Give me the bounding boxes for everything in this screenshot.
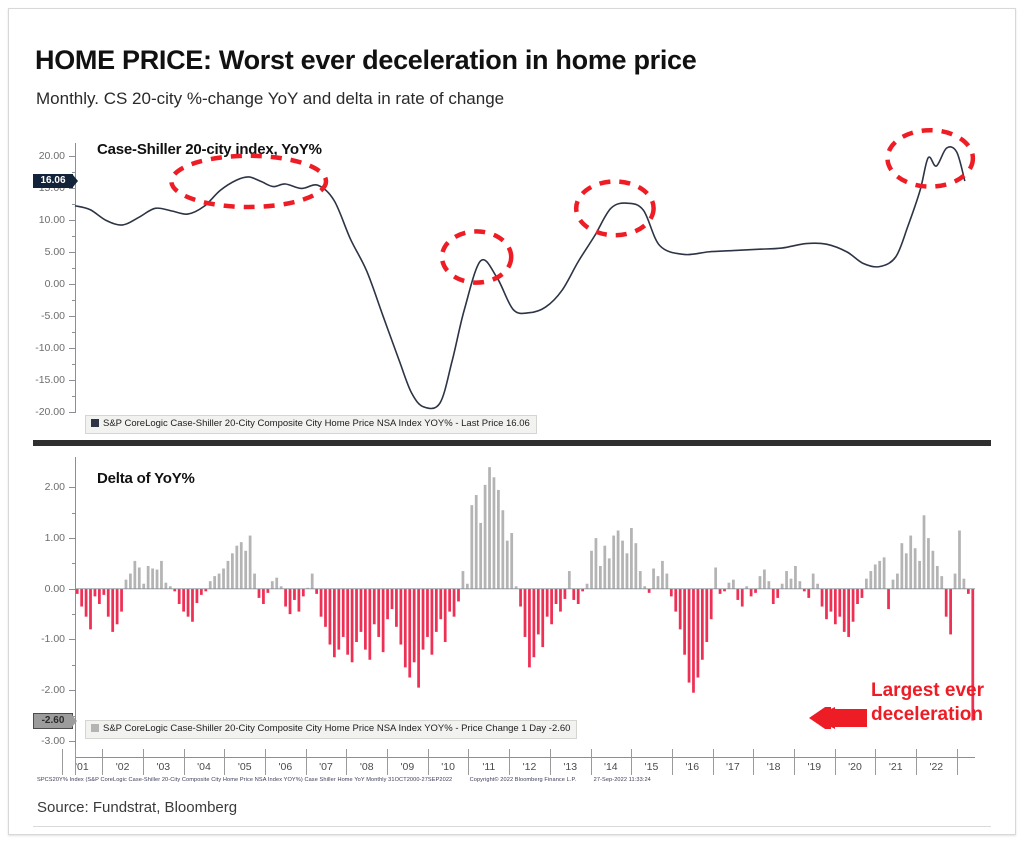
delta-bar bbox=[373, 589, 376, 624]
x-tick bbox=[184, 749, 185, 775]
delta-bar bbox=[200, 589, 203, 595]
delta-bar bbox=[435, 589, 438, 632]
delta-bar bbox=[617, 531, 620, 589]
delta-bar bbox=[785, 571, 788, 589]
delta-bar bbox=[710, 589, 713, 619]
delta-bar bbox=[213, 576, 216, 589]
delta-bar bbox=[914, 548, 917, 589]
delta-bar bbox=[568, 571, 571, 589]
delta-bar bbox=[524, 589, 527, 637]
x-tick-label: '05 bbox=[238, 761, 252, 773]
delta-bar bbox=[342, 589, 345, 637]
delta-bar bbox=[475, 495, 478, 589]
delta-bar bbox=[284, 589, 287, 607]
delta-bar bbox=[85, 589, 88, 617]
delta-bar bbox=[532, 589, 535, 657]
delta-bar bbox=[750, 589, 753, 597]
delta-bar bbox=[869, 571, 872, 589]
delta-bar bbox=[830, 589, 833, 612]
delta-bar bbox=[852, 589, 855, 622]
delta-bar bbox=[847, 589, 850, 637]
delta-bar bbox=[781, 584, 784, 589]
delta-bar bbox=[807, 589, 810, 598]
x-tick-label: '14 bbox=[604, 761, 618, 773]
delta-bar bbox=[754, 589, 757, 593]
delta-bar bbox=[227, 561, 230, 589]
delta-bar bbox=[165, 583, 168, 589]
x-tick-label: '03 bbox=[156, 761, 170, 773]
delta-bar bbox=[178, 589, 181, 604]
delta-bar bbox=[488, 467, 491, 589]
delta-bar bbox=[652, 569, 655, 589]
delta-bar bbox=[298, 589, 301, 612]
delta-bar bbox=[80, 589, 83, 607]
delta-bar bbox=[391, 589, 394, 609]
delta-bar bbox=[838, 589, 841, 617]
delta-bar bbox=[258, 589, 261, 598]
delta-bar bbox=[586, 584, 589, 589]
delta-bar bbox=[670, 589, 673, 597]
delta-bar bbox=[887, 589, 890, 609]
delta-bar bbox=[320, 589, 323, 617]
delta-bar bbox=[772, 589, 775, 604]
x-tick bbox=[428, 749, 429, 775]
delta-bar bbox=[923, 515, 926, 589]
delta-bar bbox=[776, 589, 779, 598]
x-tick bbox=[306, 749, 307, 775]
x-tick-label: '22 bbox=[929, 761, 943, 773]
source-note: Source: Fundstrat, Bloomberg bbox=[37, 799, 237, 816]
delta-bar bbox=[351, 589, 354, 663]
delta-bar bbox=[679, 589, 682, 630]
delta-bar bbox=[94, 589, 97, 597]
delta-bar bbox=[417, 589, 420, 688]
delta-bar bbox=[688, 589, 691, 683]
x-tick bbox=[387, 749, 388, 775]
bottom-chart-legend: S&P CoreLogic Case-Shiller 20-City Compo… bbox=[85, 720, 577, 739]
delta-bar bbox=[612, 536, 615, 589]
delta-bar bbox=[382, 589, 385, 652]
delta-bar bbox=[874, 564, 877, 588]
x-tick-label: '16 bbox=[685, 761, 699, 773]
x-tick-label: '07 bbox=[319, 761, 333, 773]
delta-bar bbox=[404, 589, 407, 668]
x-tick bbox=[835, 749, 836, 775]
annotation-text: Largest ever deceleration bbox=[871, 679, 984, 727]
x-tick bbox=[957, 749, 958, 775]
delta-bar bbox=[741, 589, 744, 607]
delta-bar bbox=[519, 589, 522, 607]
delta-bar bbox=[187, 589, 190, 617]
x-tick-label: '12 bbox=[523, 761, 537, 773]
delta-bar bbox=[364, 589, 367, 650]
delta-bar bbox=[235, 546, 238, 589]
delta-bar bbox=[577, 589, 580, 604]
delta-bar bbox=[439, 589, 442, 619]
delta-bar bbox=[386, 589, 389, 619]
x-tick-label: '06 bbox=[279, 761, 293, 773]
delta-bar bbox=[861, 589, 864, 598]
annotation-line-1: Largest ever bbox=[871, 679, 984, 703]
legend-swatch-bar bbox=[91, 724, 99, 732]
bloomberg-metadata: SPCS20Y% Index (S&P CoreLogic Case-Shill… bbox=[37, 777, 651, 783]
delta-bar bbox=[767, 581, 770, 589]
delta-bar bbox=[661, 561, 664, 589]
delta-bar bbox=[546, 589, 549, 617]
delta-bar bbox=[457, 589, 460, 602]
delta-bar bbox=[595, 538, 598, 589]
delta-bar bbox=[395, 589, 398, 627]
delta-bar bbox=[413, 589, 416, 663]
delta-bar bbox=[231, 553, 234, 588]
delta-bar bbox=[408, 589, 411, 678]
delta-bar bbox=[967, 589, 970, 594]
delta-bar bbox=[634, 543, 637, 589]
delta-bar bbox=[905, 553, 908, 588]
delta-bar bbox=[470, 505, 473, 589]
delta-bar bbox=[249, 536, 252, 589]
delta-bar bbox=[302, 589, 305, 597]
x-tick bbox=[102, 749, 103, 775]
bottom-chart-last-value-badge: -2.60 bbox=[33, 713, 73, 729]
delta-bar bbox=[825, 589, 828, 619]
delta-bar bbox=[497, 490, 500, 589]
delta-bar bbox=[559, 589, 562, 612]
x-tick bbox=[265, 749, 266, 775]
delta-bar bbox=[572, 589, 575, 600]
delta-bar bbox=[555, 589, 558, 604]
delta-bar bbox=[683, 589, 686, 655]
x-tick bbox=[468, 749, 469, 775]
delta-bar bbox=[927, 538, 930, 589]
bottom-chart-legend-text: S&P CoreLogic Case-Shiller 20-City Compo… bbox=[103, 723, 570, 734]
delta-bar bbox=[692, 589, 695, 693]
x-tick-label: '02 bbox=[116, 761, 130, 773]
delta-bar bbox=[936, 566, 939, 589]
badge-pointer bbox=[72, 715, 77, 727]
x-tick bbox=[794, 749, 795, 775]
delta-bar bbox=[674, 589, 677, 612]
delta-bar bbox=[732, 580, 735, 589]
delta-bar bbox=[816, 584, 819, 589]
delta-bar bbox=[218, 574, 221, 589]
x-tick bbox=[509, 749, 510, 775]
x-tick bbox=[591, 749, 592, 775]
delta-bar bbox=[719, 589, 722, 594]
x-tick-label: '04 bbox=[197, 761, 211, 773]
delta-bar bbox=[909, 536, 912, 589]
x-tick-label: '08 bbox=[360, 761, 374, 773]
delta-bar bbox=[399, 589, 402, 645]
delta-bar bbox=[129, 574, 132, 589]
delta-bar bbox=[590, 551, 593, 589]
delta-bar bbox=[98, 589, 101, 604]
delta-bar bbox=[311, 574, 314, 589]
delta-bar bbox=[599, 566, 602, 589]
delta-bar bbox=[76, 589, 79, 594]
delta-bar bbox=[329, 589, 332, 645]
bloomberg-meta-right: Copyright© 2022 Bloomberg Finance L.P. bbox=[470, 777, 577, 783]
delta-bar bbox=[346, 589, 349, 655]
delta-bar bbox=[266, 589, 269, 593]
x-tick bbox=[753, 749, 754, 775]
delta-bar bbox=[182, 589, 185, 612]
delta-bar bbox=[932, 551, 935, 589]
delta-bar bbox=[453, 589, 456, 617]
delta-bar bbox=[626, 553, 629, 588]
delta-bar bbox=[728, 583, 731, 589]
bloomberg-meta-left: SPCS20Y% Index (S&P CoreLogic Case-Shill… bbox=[37, 777, 452, 783]
delta-bar bbox=[368, 589, 371, 660]
delta-bar bbox=[448, 589, 451, 612]
delta-bar bbox=[222, 569, 225, 589]
delta-bar bbox=[736, 589, 739, 600]
x-tick bbox=[672, 749, 673, 775]
delta-bar bbox=[510, 533, 513, 589]
delta-bar bbox=[324, 589, 327, 627]
x-tick bbox=[916, 749, 917, 775]
x-tick bbox=[631, 749, 632, 775]
x-tick bbox=[875, 749, 876, 775]
x-tick bbox=[143, 749, 144, 775]
delta-bar bbox=[493, 477, 496, 589]
x-tick bbox=[550, 749, 551, 775]
delta-bar bbox=[111, 589, 114, 632]
delta-bar bbox=[603, 546, 606, 589]
delta-bar bbox=[621, 541, 624, 589]
delta-bar bbox=[954, 574, 957, 589]
x-tick-label: '20 bbox=[848, 761, 862, 773]
delta-bar bbox=[564, 589, 567, 599]
delta-bar bbox=[790, 579, 793, 589]
x-tick-label: '01 bbox=[75, 761, 89, 773]
delta-bar bbox=[528, 589, 531, 668]
delta-bar bbox=[794, 566, 797, 589]
delta-bar bbox=[666, 574, 669, 589]
delta-bar bbox=[639, 571, 642, 589]
delta-bar bbox=[244, 551, 247, 589]
delta-bar bbox=[843, 589, 846, 632]
delta-bar bbox=[209, 581, 212, 589]
delta-bar bbox=[151, 569, 154, 589]
delta-bar bbox=[865, 579, 868, 589]
x-tick-label: '13 bbox=[563, 761, 577, 773]
delta-bar bbox=[333, 589, 336, 657]
chart-card: HOME PRICE: Worst ever deceleration in h… bbox=[8, 8, 1016, 835]
delta-bar bbox=[133, 561, 136, 589]
x-tick-label: '21 bbox=[889, 761, 903, 773]
delta-bar bbox=[466, 584, 469, 589]
delta-bar bbox=[763, 570, 766, 589]
delta-bar bbox=[315, 589, 318, 594]
delta-bar bbox=[506, 541, 509, 589]
x-tick-label: '15 bbox=[645, 761, 659, 773]
delta-bar bbox=[714, 568, 717, 589]
delta-bar bbox=[701, 589, 704, 660]
delta-bar bbox=[958, 531, 961, 589]
delta-bar bbox=[102, 589, 105, 595]
delta-bar bbox=[484, 485, 487, 589]
annotation-arrow bbox=[809, 707, 867, 729]
delta-bar bbox=[896, 574, 899, 589]
delta-bar bbox=[125, 580, 128, 589]
delta-bar bbox=[271, 581, 274, 589]
delta-bar bbox=[253, 574, 256, 589]
delta-bar bbox=[799, 581, 802, 589]
delta-bar bbox=[262, 589, 265, 604]
delta-bar bbox=[878, 561, 881, 589]
delta-bar bbox=[120, 589, 123, 612]
delta-bar bbox=[812, 574, 815, 589]
x-tick-label: '19 bbox=[807, 761, 821, 773]
delta-bar bbox=[759, 576, 762, 589]
delta-bar bbox=[856, 589, 859, 604]
x-tick-label: '17 bbox=[726, 761, 740, 773]
delta-bar bbox=[156, 570, 159, 589]
delta-bar bbox=[705, 589, 708, 642]
delta-bar bbox=[444, 589, 447, 642]
delta-bar bbox=[648, 589, 651, 593]
delta-bar bbox=[160, 561, 163, 589]
delta-bar bbox=[360, 589, 363, 632]
delta-bar bbox=[147, 566, 150, 589]
delta-bar bbox=[892, 580, 895, 589]
x-tick-label: '11 bbox=[482, 761, 495, 773]
delta-bar bbox=[138, 568, 141, 589]
delta-bar bbox=[501, 510, 504, 589]
delta-bar bbox=[355, 589, 358, 642]
delta-bar bbox=[697, 589, 700, 678]
delta-bar bbox=[196, 589, 199, 603]
x-axis-line bbox=[75, 757, 975, 758]
delta-bar bbox=[900, 543, 903, 589]
delta-bar bbox=[191, 589, 194, 622]
delta-bar bbox=[608, 558, 611, 588]
delta-bar bbox=[142, 584, 145, 589]
x-tick bbox=[346, 749, 347, 775]
delta-bar bbox=[422, 589, 425, 650]
delta-bar bbox=[657, 576, 660, 589]
delta-bar bbox=[479, 523, 482, 589]
x-tick-label: '18 bbox=[767, 761, 781, 773]
delta-bar bbox=[431, 589, 434, 655]
delta-bar bbox=[918, 561, 921, 589]
delta-bar bbox=[550, 589, 553, 624]
x-tick bbox=[713, 749, 714, 775]
delta-bar bbox=[462, 571, 465, 589]
delta-bar bbox=[289, 589, 292, 614]
bloomberg-timestamp: 27-Sep-2022 11:33:24 bbox=[594, 777, 651, 783]
delta-bar bbox=[834, 589, 837, 624]
x-tick-label: '09 bbox=[401, 761, 415, 773]
delta-bar bbox=[821, 589, 824, 607]
bottom-divider bbox=[33, 826, 991, 827]
delta-bar bbox=[963, 579, 966, 589]
annotation-line-2: deceleration bbox=[871, 703, 984, 727]
x-tick-label: '10 bbox=[441, 761, 455, 773]
screenshot-root: HOME PRICE: Worst ever deceleration in h… bbox=[0, 0, 1024, 851]
delta-bar bbox=[240, 542, 243, 589]
x-tick bbox=[224, 749, 225, 775]
delta-bar bbox=[337, 589, 340, 650]
delta-bar bbox=[293, 589, 296, 600]
delta-bar bbox=[275, 578, 278, 589]
delta-bar bbox=[630, 528, 633, 589]
delta-bar bbox=[537, 589, 540, 635]
delta-bar bbox=[426, 589, 429, 637]
delta-bar bbox=[116, 589, 119, 624]
delta-bar bbox=[377, 589, 380, 637]
x-tick bbox=[62, 749, 63, 775]
x-tick bbox=[75, 749, 76, 775]
delta-bar bbox=[883, 557, 886, 588]
delta-bar bbox=[949, 589, 952, 635]
delta-bar bbox=[107, 589, 110, 617]
delta-bar bbox=[541, 589, 544, 647]
delta-bar bbox=[945, 589, 948, 617]
delta-bar bbox=[89, 589, 92, 630]
delta-bar bbox=[940, 576, 943, 589]
